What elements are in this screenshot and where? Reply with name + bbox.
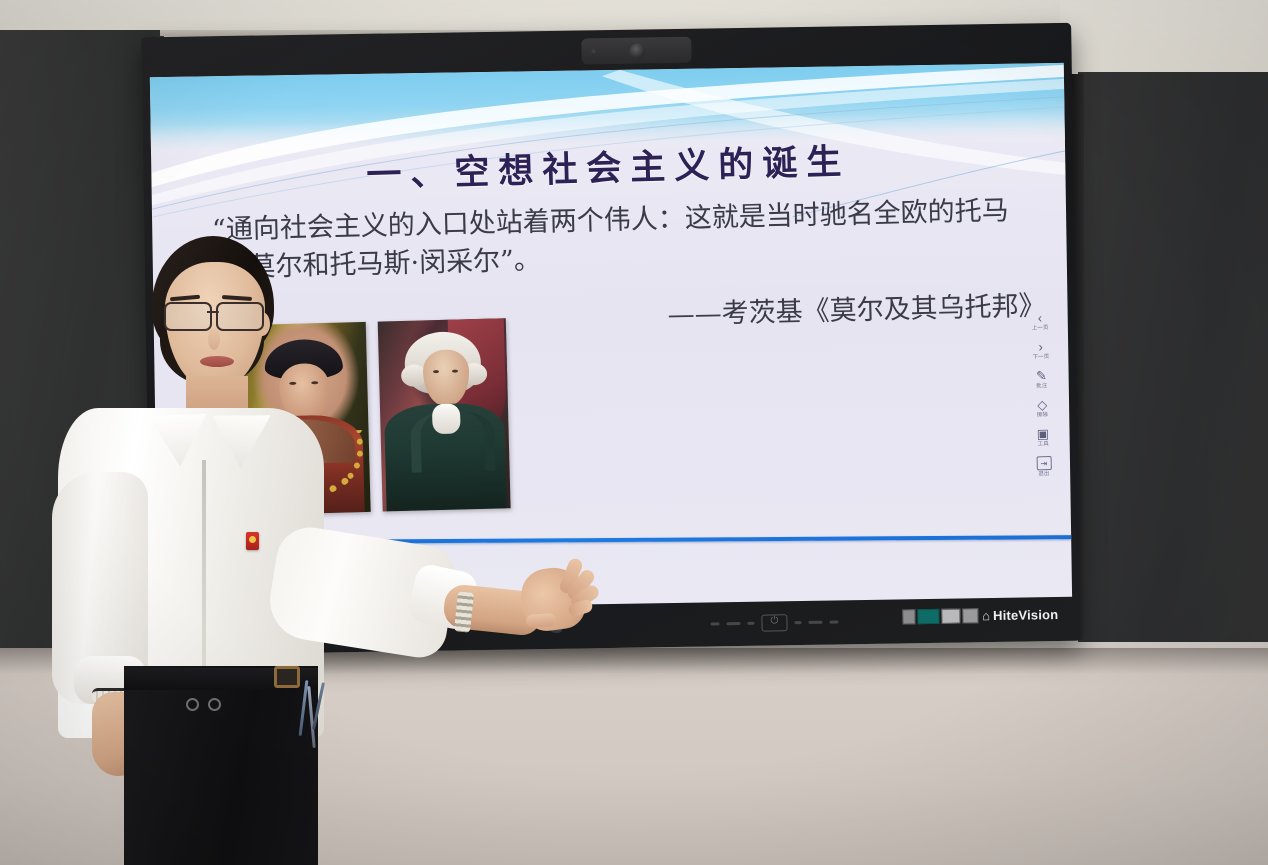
brand-name: HiteVision [993,607,1059,623]
toolbox-icon: ▣ [1037,427,1050,440]
brand-mark-icon: ⌂ [982,609,990,622]
toolbar-item-tools[interactable]: ▣ 工具 [1026,427,1061,448]
toolbar-label-exit: 退出 [1038,471,1049,477]
pen-icon: ✎ [1036,369,1047,382]
toolbar-label-annotate: 批注 [1036,383,1047,389]
bezel-button-home[interactable] [794,621,801,624]
presenter-pointing-arm [40,236,340,865]
blackboard-right-wing [1078,72,1268,642]
certification-stickers [902,608,978,624]
display-branding: ⌂ HiteVision [902,607,1058,624]
power-button[interactable] [761,614,787,631]
toolbar-item-erase[interactable]: ◇ 擦除 [1025,398,1060,419]
brand-logo: ⌂ HiteVision [982,607,1058,623]
slide-attribution: ——考茨基《莫尔及其乌托邦》 [667,284,1046,332]
portrait-thomas-muntzer [378,318,511,511]
camera-indicator-icon [591,49,595,53]
bezel-button-volume-up[interactable] [829,620,838,623]
bezel-button-volume-down[interactable] [710,622,719,625]
muntzer-cravat [432,403,461,434]
toolbar-label-tools: 工具 [1038,441,1049,447]
finger-thumb [526,613,557,628]
toolbar-label-erase: 擦除 [1037,412,1048,418]
sticker-4 [962,608,978,623]
chevron-left-icon: ‹ [1038,311,1043,324]
bezel-button-menu[interactable] [747,621,754,624]
camera-lens-icon [629,43,645,58]
toolbar-item-exit[interactable]: ⇥ 退出 [1027,456,1062,478]
toolbar-label-next-page: 下一页 [1032,354,1049,360]
eraser-icon: ◇ [1037,398,1047,411]
exit-icon: ⇥ [1036,456,1051,470]
sticker-1 [902,609,915,624]
bezel-button-back[interactable] [808,620,822,623]
bezel-button-source[interactable] [726,622,740,625]
toolbar-item-next-page[interactable]: › 下一页 [1024,340,1059,361]
annotation-toolbar[interactable]: ‹ 上一页 › 下一页 ✎ 批注 ◇ 擦除 ▣ 工具 [1023,311,1061,478]
toolbar-item-prev-page[interactable]: ‹ 上一页 [1023,311,1058,332]
sticker-3 [941,609,960,624]
bezel-button-row[interactable] [710,612,880,633]
camera-bar-icon [581,37,691,65]
toolbar-item-annotate[interactable]: ✎ 批注 [1024,369,1059,390]
chevron-right-icon: › [1038,340,1043,353]
toolbar-label-prev-page: 上一页 [1032,325,1049,331]
classroom-screenshot: 一、空想社会主义的诞生 “通向社会主义的入口处站着两个伟人：这就是当时驰名全欧的… [0,0,1268,865]
sticker-2 [917,609,939,624]
